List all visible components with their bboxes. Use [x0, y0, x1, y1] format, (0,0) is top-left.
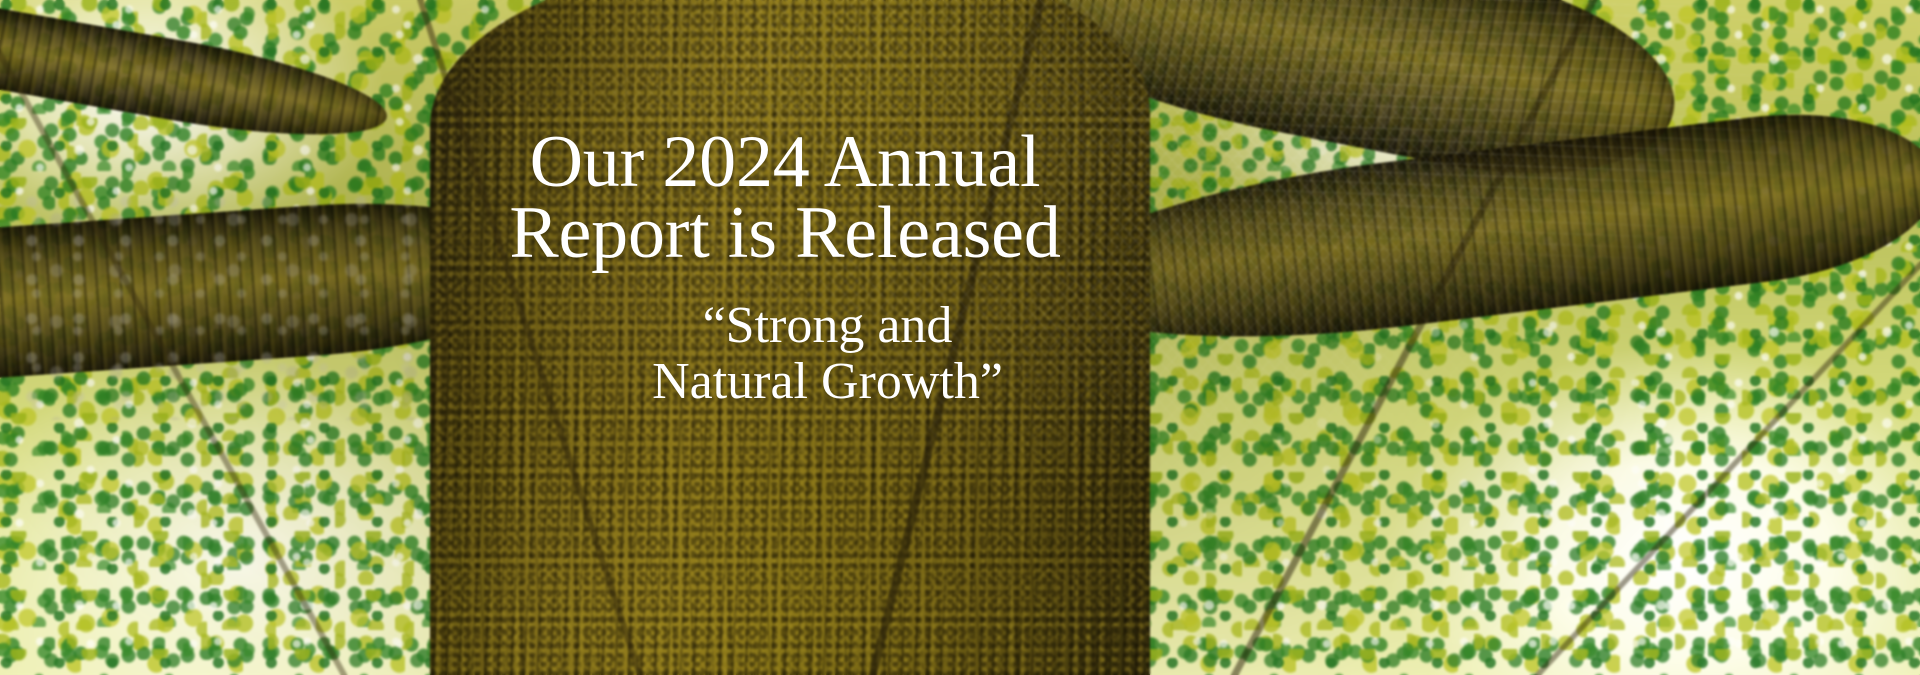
- annual-report-hero-banner: Our 2024 Annual Report is Released “Stro…: [0, 0, 1920, 675]
- lichen-moss-speckles: [20, 190, 440, 420]
- tree-branch-left-upper: [0, 3, 394, 156]
- trunk-bark-grain: [430, 0, 1150, 675]
- tree-trunk: [430, 0, 1150, 675]
